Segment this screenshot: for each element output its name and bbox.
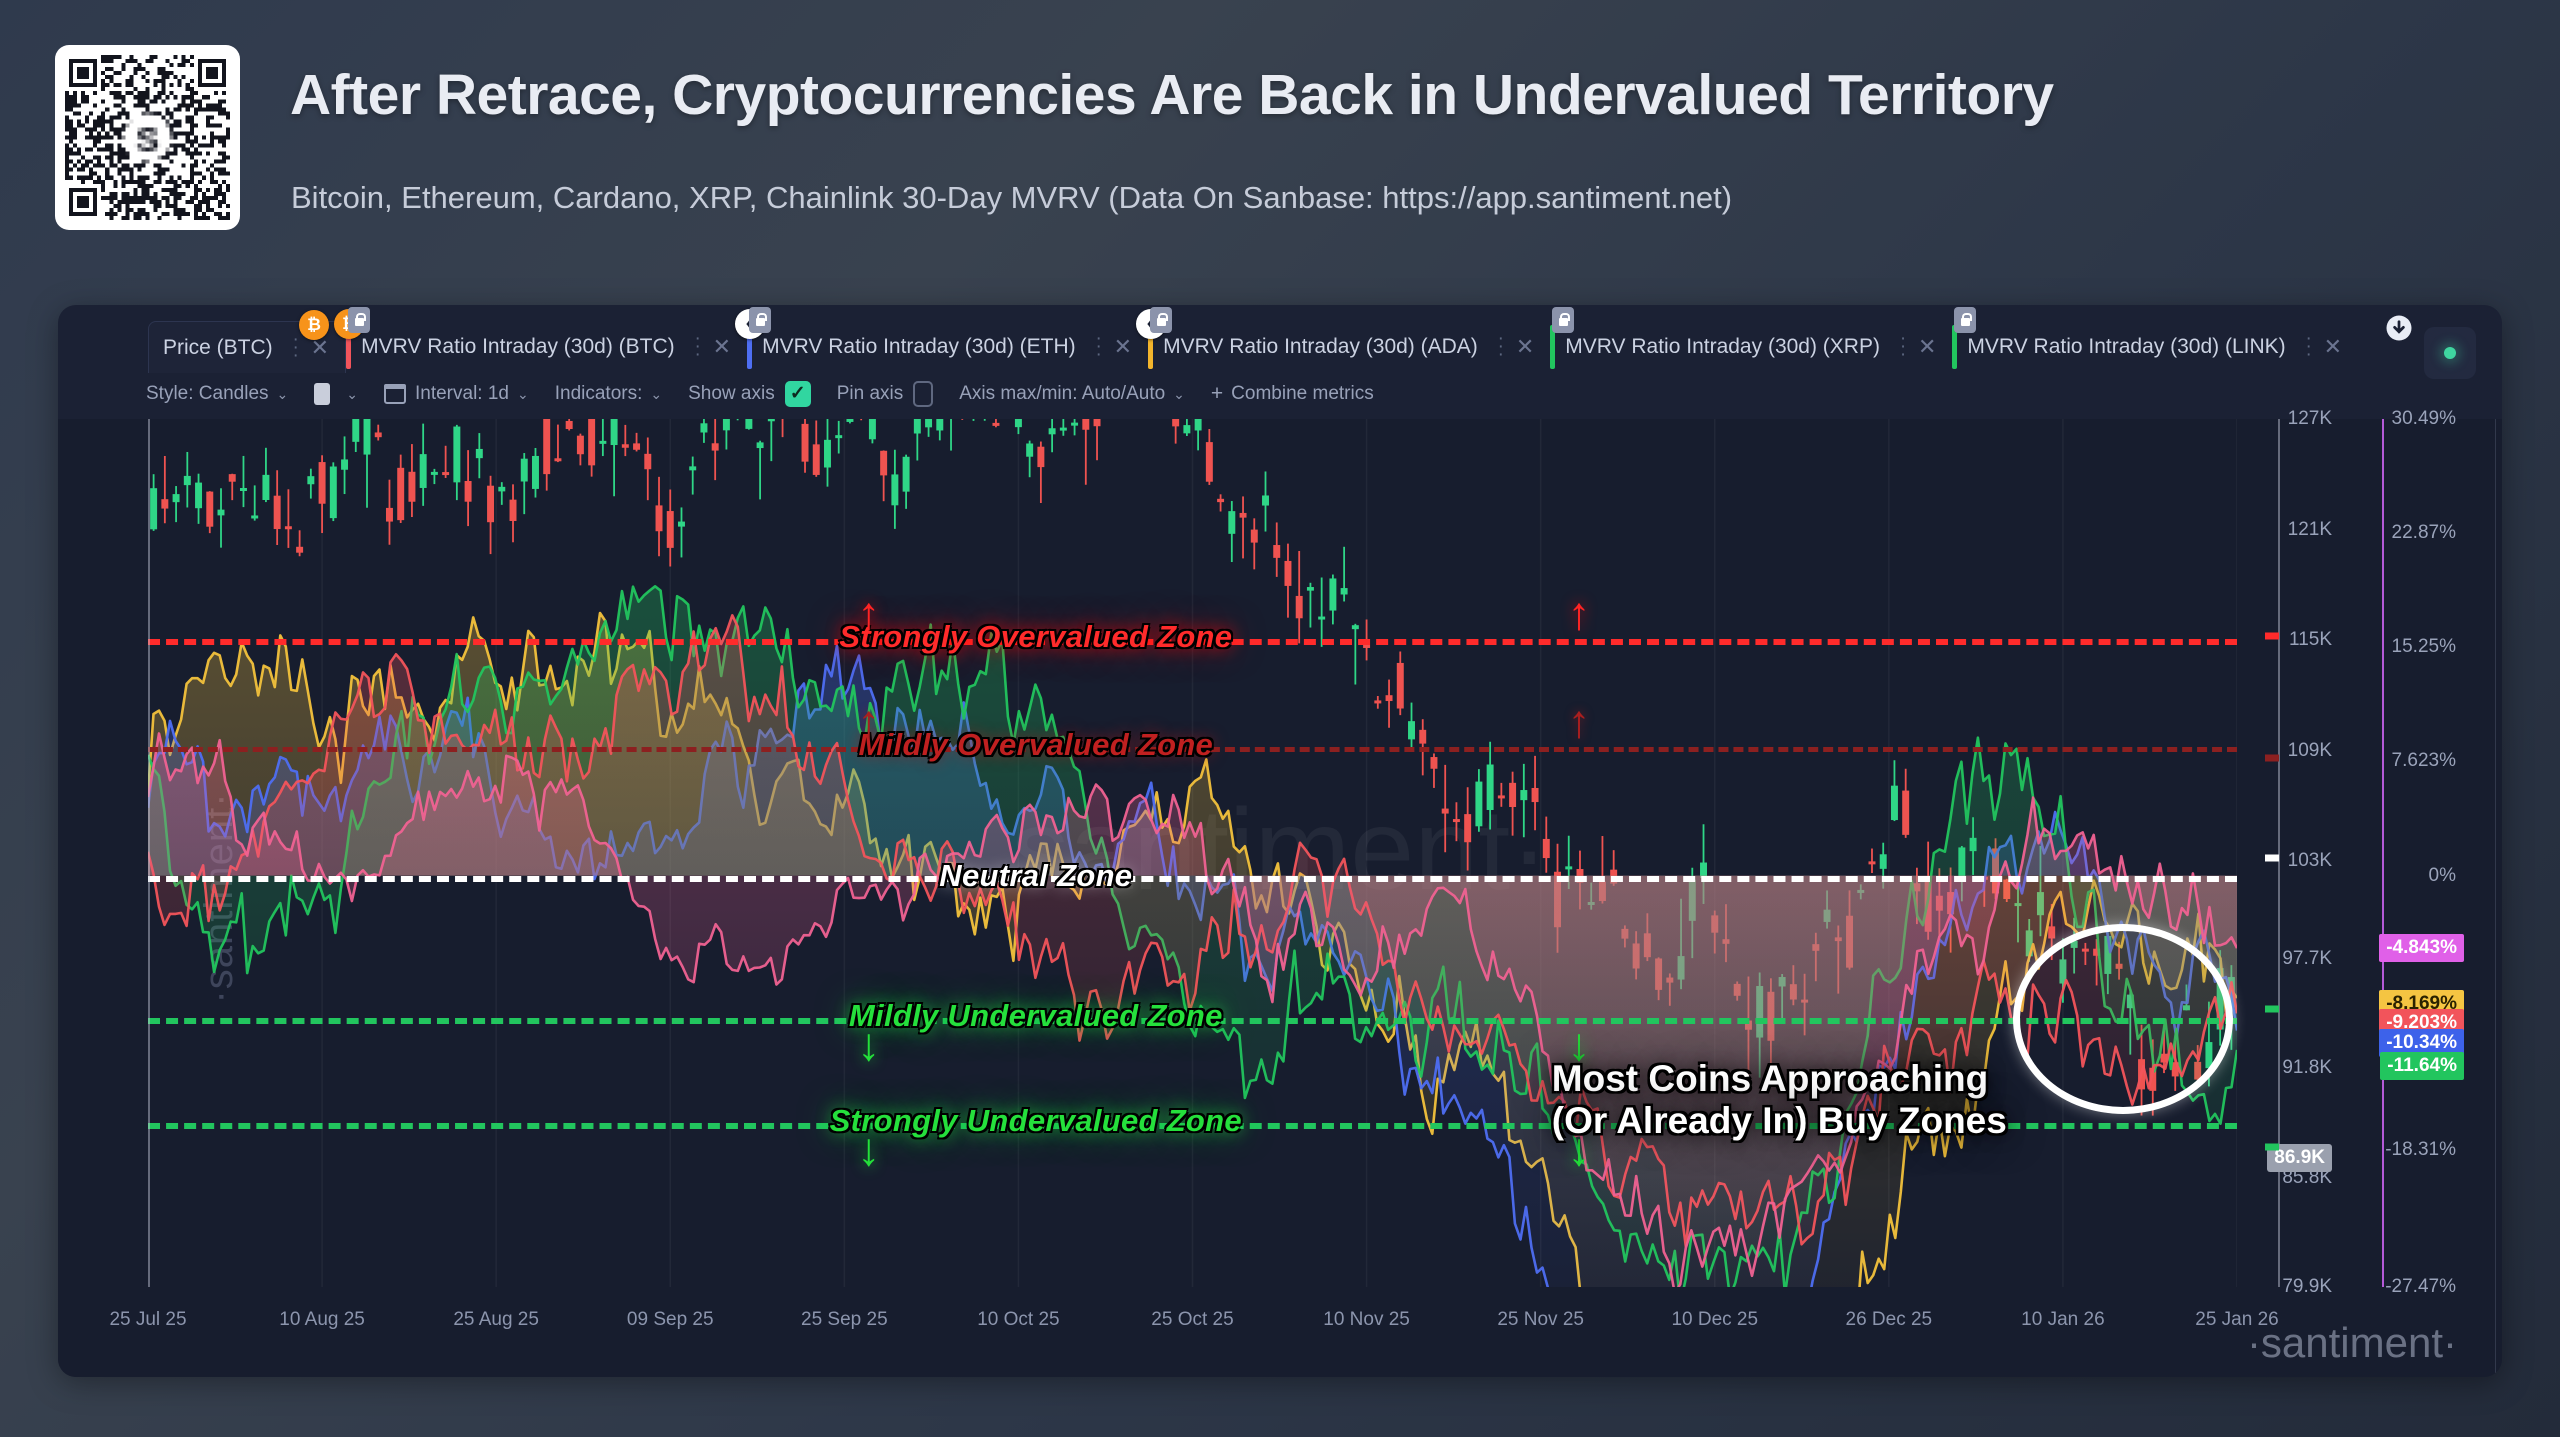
callout-line-1: Most Coins Approaching xyxy=(1552,1058,2007,1099)
chevron-down-icon: ⌄ xyxy=(517,386,529,403)
download-icon[interactable] xyxy=(2382,313,2416,347)
callout-line-2: (Or Already In) Buy Zones xyxy=(1552,1100,2007,1141)
metric-tab-btc[interactable]: MVRV Ratio Intraday (30d) (BTC)···✕₿ xyxy=(346,321,747,373)
tab-close-icon[interactable]: ✕ xyxy=(2324,334,2342,360)
tab-menu-icon[interactable]: ··· xyxy=(1894,335,1912,359)
zone-arrow-up: ↑ xyxy=(1567,590,1590,636)
zone-arrow-up: ↑ xyxy=(857,590,880,636)
combine-metrics-label: Combine metrics xyxy=(1231,383,1374,405)
zone-line-2 xyxy=(148,876,2237,882)
price-tick-label: 91.8K xyxy=(2282,1057,2332,1079)
lock-icon xyxy=(348,307,370,333)
lock-icon xyxy=(1552,307,1574,333)
metric-tab-label: Price (BTC) xyxy=(163,336,273,360)
x-axis-tick-label: 10 Dec 25 xyxy=(1671,1309,1758,1331)
chart-panel: Price (BTC)···✕₿MVRV Ratio Intraday (30d… xyxy=(58,305,2502,1377)
x-axis-tick-label: 25 Nov 25 xyxy=(1497,1309,1584,1331)
coin-logo-icon: ₿ xyxy=(299,310,329,340)
axis-zone-marker xyxy=(2265,755,2279,762)
page-subtitle: Bitcoin, Ethereum, Cardano, XRP, Chainli… xyxy=(291,180,1732,216)
zone-label-1: Mildly Overvalued Zone xyxy=(859,727,1214,763)
indicators-label: Indicators: xyxy=(555,383,643,405)
tab-menu-icon[interactable]: ··· xyxy=(287,336,305,360)
axis-zone-marker xyxy=(2265,1005,2279,1012)
pin-axis-label: Pin axis xyxy=(837,383,904,405)
tab-close-icon[interactable]: ✕ xyxy=(1918,334,1936,360)
x-axis-tick-label: 10 Aug 25 xyxy=(279,1309,365,1331)
price-tick-label: 109K xyxy=(2288,740,2332,762)
metric-tab-label: MVRV Ratio Intraday (30d) (ETH) xyxy=(762,335,1076,359)
qr-code-icon xyxy=(55,45,240,230)
metric-tab-xrp[interactable]: MVRV Ratio Intraday (30d) (XRP)···✕ xyxy=(1550,321,1952,373)
price-tick-label: 127K xyxy=(2288,408,2332,430)
callout-text: Most Coins Approaching(Or Already In) Bu… xyxy=(1552,1058,2007,1141)
axis-zone-marker xyxy=(2265,633,2279,640)
x-axis-tick-label: 25 Oct 25 xyxy=(1151,1309,1233,1331)
x-axis-tick-label: 25 Jan 26 xyxy=(2195,1309,2278,1331)
price-tick-label: 103K xyxy=(2288,850,2332,872)
lock-icon xyxy=(1150,307,1172,333)
x-axis-tick-label: 26 Dec 25 xyxy=(1846,1309,1933,1331)
zone-label-0: Strongly Overvalued Zone xyxy=(839,619,1232,655)
zone-arrow-down: ↓ xyxy=(857,1126,880,1172)
record-dot-icon[interactable] xyxy=(2424,327,2476,379)
plus-icon: + xyxy=(1211,382,1223,406)
metric-tab-ada[interactable]: MVRV Ratio Intraday (30d) (ADA)···✕♦ xyxy=(1148,321,1550,373)
page-header: After Retrace, Cryptocurrencies Are Back… xyxy=(0,0,2560,290)
percent-tick-label: 30.49% xyxy=(2392,408,2456,430)
price-tick-label: 115K xyxy=(2289,629,2332,651)
plot-region[interactable] xyxy=(148,419,2237,1287)
percent-tick-label: -18.31% xyxy=(2385,1139,2456,1161)
chart-canvas-area[interactable]: ·santiment· santiment· ·santiment· Stron… xyxy=(58,419,2502,1377)
page-title: After Retrace, Cryptocurrencies Are Back… xyxy=(290,62,2054,128)
x-axis-tick-label: 25 Sep 25 xyxy=(801,1309,888,1331)
x-axis-tick-label: 10 Oct 25 xyxy=(977,1309,1059,1331)
show-axis-toggle[interactable]: Show axis ✓ xyxy=(688,381,811,407)
price-tick-label: 79.9K xyxy=(2282,1276,2332,1298)
tab-menu-icon[interactable]: ··· xyxy=(2300,335,2318,359)
tab-menu-icon[interactable]: ··· xyxy=(1090,335,1108,359)
x-axis-tick-label: 25 Jul 25 xyxy=(109,1309,186,1331)
checkbox-checked-icon[interactable]: ✓ xyxy=(785,381,811,407)
callout-circle xyxy=(2013,924,2233,1114)
value-badge-link: -11.64% xyxy=(2380,1052,2464,1080)
metric-tab-label: MVRV Ratio Intraday (30d) (ADA) xyxy=(1163,335,1478,359)
combine-metrics-button[interactable]: + Combine metrics xyxy=(1211,382,1374,406)
tab-menu-icon[interactable]: ··· xyxy=(1492,335,1510,359)
metric-tab-label: MVRV Ratio Intraday (30d) (XRP) xyxy=(1565,335,1880,359)
interval-dropdown[interactable]: Interval: 1d ⌄ xyxy=(384,383,529,405)
metric-tab-label: MVRV Ratio Intraday (30d) (LINK) xyxy=(1967,335,2285,359)
tab-close-icon[interactable]: ✕ xyxy=(1516,334,1534,360)
y-axis-left xyxy=(148,419,150,1287)
style-dropdown[interactable]: Style: Candles ⌄ xyxy=(146,383,288,405)
indicators-dropdown[interactable]: Indicators: ⌄ xyxy=(555,383,662,405)
show-axis-label: Show axis xyxy=(688,383,775,405)
metric-tab-link[interactable]: MVRV Ratio Intraday (30d) (LINK)···✕ xyxy=(1952,321,2358,373)
zone-label-2: Neutral Zone xyxy=(939,858,1132,894)
axis-zone-marker xyxy=(2265,1143,2279,1150)
metric-tab-bar: Price (BTC)···✕₿MVRV Ratio Intraday (30d… xyxy=(58,305,2502,373)
tab-close-icon[interactable]: ✕ xyxy=(1114,334,1132,360)
chart-toolbar: Style: Candles ⌄ ⌄ Interval: 1d ⌄ Indica… xyxy=(146,377,1400,411)
x-axis-tick-label: 10 Jan 26 xyxy=(2021,1309,2104,1331)
y-axis-outer-border xyxy=(2495,419,2496,1377)
percent-tick-label: 22.87% xyxy=(2392,522,2456,544)
axis-minmax-dropdown[interactable]: Axis max/min: Auto/Auto ⌄ xyxy=(959,383,1185,405)
price-tick-label: 121K xyxy=(2288,519,2332,541)
price-tick-label: 97.7K xyxy=(2282,948,2332,970)
zone-arrow-down: ↓ xyxy=(857,1021,880,1067)
percent-tick-label: 7.623% xyxy=(2392,750,2456,772)
style-label: Style: Candles xyxy=(146,383,269,405)
zone-arrow-up: ↑ xyxy=(857,698,880,744)
zone-arrow-up: ↑ xyxy=(1567,698,1590,744)
axis-zone-marker xyxy=(2265,854,2279,861)
checkbox-unchecked-icon[interactable] xyxy=(913,381,933,407)
y-axis-percent xyxy=(2382,419,2384,1287)
chevron-down-icon: ⌄ xyxy=(277,386,289,403)
x-axis-tick-label: 10 Nov 25 xyxy=(1323,1309,1410,1331)
metric-tab-label: MVRV Ratio Intraday (30d) (BTC) xyxy=(361,335,675,359)
metric-tab-eth[interactable]: MVRV Ratio Intraday (30d) (ETH)···✕♦ xyxy=(747,321,1148,373)
x-axis-tick-label: 25 Aug 25 xyxy=(453,1309,539,1331)
x-axis-tick-label: 09 Sep 25 xyxy=(627,1309,714,1331)
axis-minmax-label: Axis max/min: Auto/Auto xyxy=(959,383,1165,405)
lock-icon xyxy=(1954,307,1976,333)
tab-close-icon[interactable]: ✕ xyxy=(713,334,731,360)
calendar-icon xyxy=(384,384,406,404)
chevron-down-icon: ⌄ xyxy=(346,386,358,403)
zone-label-3: Mildly Undervalued Zone xyxy=(849,998,1223,1034)
percent-tick-label: 15.25% xyxy=(2392,636,2456,658)
metric-tab-btc[interactable]: Price (BTC)···✕₿ xyxy=(148,321,346,373)
lock-icon xyxy=(749,307,771,333)
zone-label-4: Strongly Undervalued Zone xyxy=(830,1103,1242,1139)
value-badge-btc: -4.843% xyxy=(2379,934,2464,962)
percent-tick-label: -27.47% xyxy=(2385,1276,2456,1298)
candle-color-picker[interactable]: ⌄ xyxy=(314,383,358,405)
chevron-down-icon: ⌄ xyxy=(650,386,662,403)
color-swatch-icon xyxy=(314,383,330,405)
pin-axis-toggle[interactable]: Pin axis xyxy=(837,381,934,407)
chevron-down-icon: ⌄ xyxy=(1173,386,1185,403)
percent-tick-label: 0% xyxy=(2429,865,2456,887)
tab-menu-icon[interactable]: ··· xyxy=(689,335,707,359)
interval-label: Interval: 1d xyxy=(415,383,509,405)
